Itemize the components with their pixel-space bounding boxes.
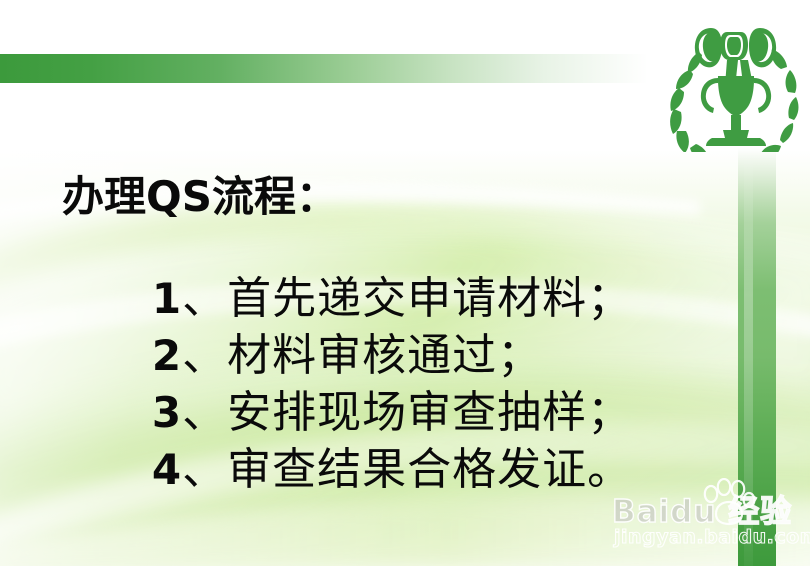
trophy-laurel-ribbon-logo	[668, 12, 803, 152]
list-item-number: 2	[152, 331, 182, 380]
presentation-slide: 办理QS流程： 1、首先递交申请材料； 2、材料审核通过； 3、安排现场审查抽样…	[0, 0, 810, 566]
list-item-number: 1	[152, 274, 182, 323]
right-accent-bar-highlight	[744, 148, 753, 566]
slide-text-block: 办理QS流程： 1、首先递交申请材料； 2、材料审核通过； 3、安排现场审查抽样…	[62, 176, 682, 461]
list-item: 1、首先递交申请材料；	[62, 233, 682, 290]
list-item-separator: 、	[182, 387, 227, 438]
list-item-text: 首先递交申请材料；	[227, 273, 632, 324]
list-item-separator: 、	[182, 273, 227, 324]
list-item-text: 审查结果合格发证。	[227, 444, 632, 495]
list-item-separator: 、	[182, 330, 227, 381]
top-accent-bar	[0, 54, 648, 83]
list-item-text: 安排现场审查抽样；	[227, 387, 632, 438]
list-item-number: 3	[152, 388, 182, 437]
watermark-url: jingyan.baidu.com	[614, 526, 810, 548]
list-item-separator: 、	[182, 444, 227, 495]
slide-title: 办理QS流程：	[62, 176, 682, 224]
list-item-text: 材料审核通过；	[227, 330, 542, 381]
list-item-number: 4	[152, 445, 182, 494]
